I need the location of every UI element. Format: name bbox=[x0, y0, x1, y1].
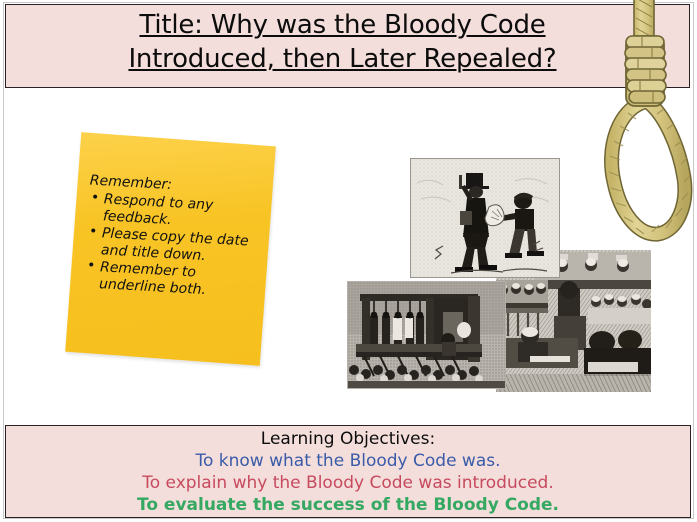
sticky-note-bullet-list: • Respond to any feedback. • Please copy… bbox=[84, 190, 269, 302]
noose-icon bbox=[598, 0, 694, 246]
learning-objectives-heading: Learning Objectives: bbox=[261, 428, 435, 450]
title-line-2: Introduced, then Later Repealed? bbox=[128, 42, 556, 76]
sticky-note-content: Remember: • Respond to any feedback. • P… bbox=[84, 173, 270, 303]
learning-objective-evaluate: To evaluate the success of the Bloody Co… bbox=[137, 494, 559, 516]
learning-objective-explain: To explain why the Bloody Code was intro… bbox=[142, 472, 554, 494]
learning-objective-know: To know what the Bloody Code was. bbox=[195, 450, 500, 472]
list-item-label: Remember to underline both. bbox=[99, 259, 207, 298]
list-item-label: Respond to any feedback. bbox=[102, 191, 213, 228]
hangman-noose-illustration bbox=[598, 0, 694, 246]
bullet-icon: • bbox=[87, 257, 96, 274]
bullet-icon: • bbox=[90, 190, 99, 207]
hangman-knot bbox=[625, 36, 666, 106]
learning-objectives-panel: Learning Objectives: To know what the Bl… bbox=[5, 425, 691, 518]
title-line-1: Title: Why was the Bloody Code bbox=[139, 8, 545, 42]
public-execution-engraving bbox=[347, 281, 506, 389]
lesson-slide: Title: Why was the Bloody Code Introduce… bbox=[0, 0, 697, 522]
sticky-note: Remember: • Respond to any feedback. • P… bbox=[65, 132, 276, 366]
public-execution-engraving-art bbox=[348, 282, 505, 388]
pickpocket-engraving bbox=[410, 158, 560, 278]
page-title: Title: Why was the Bloody Code Introduce… bbox=[0, 0, 685, 84]
pickpocket-engraving-art bbox=[411, 159, 559, 277]
bullet-icon: • bbox=[89, 224, 98, 241]
